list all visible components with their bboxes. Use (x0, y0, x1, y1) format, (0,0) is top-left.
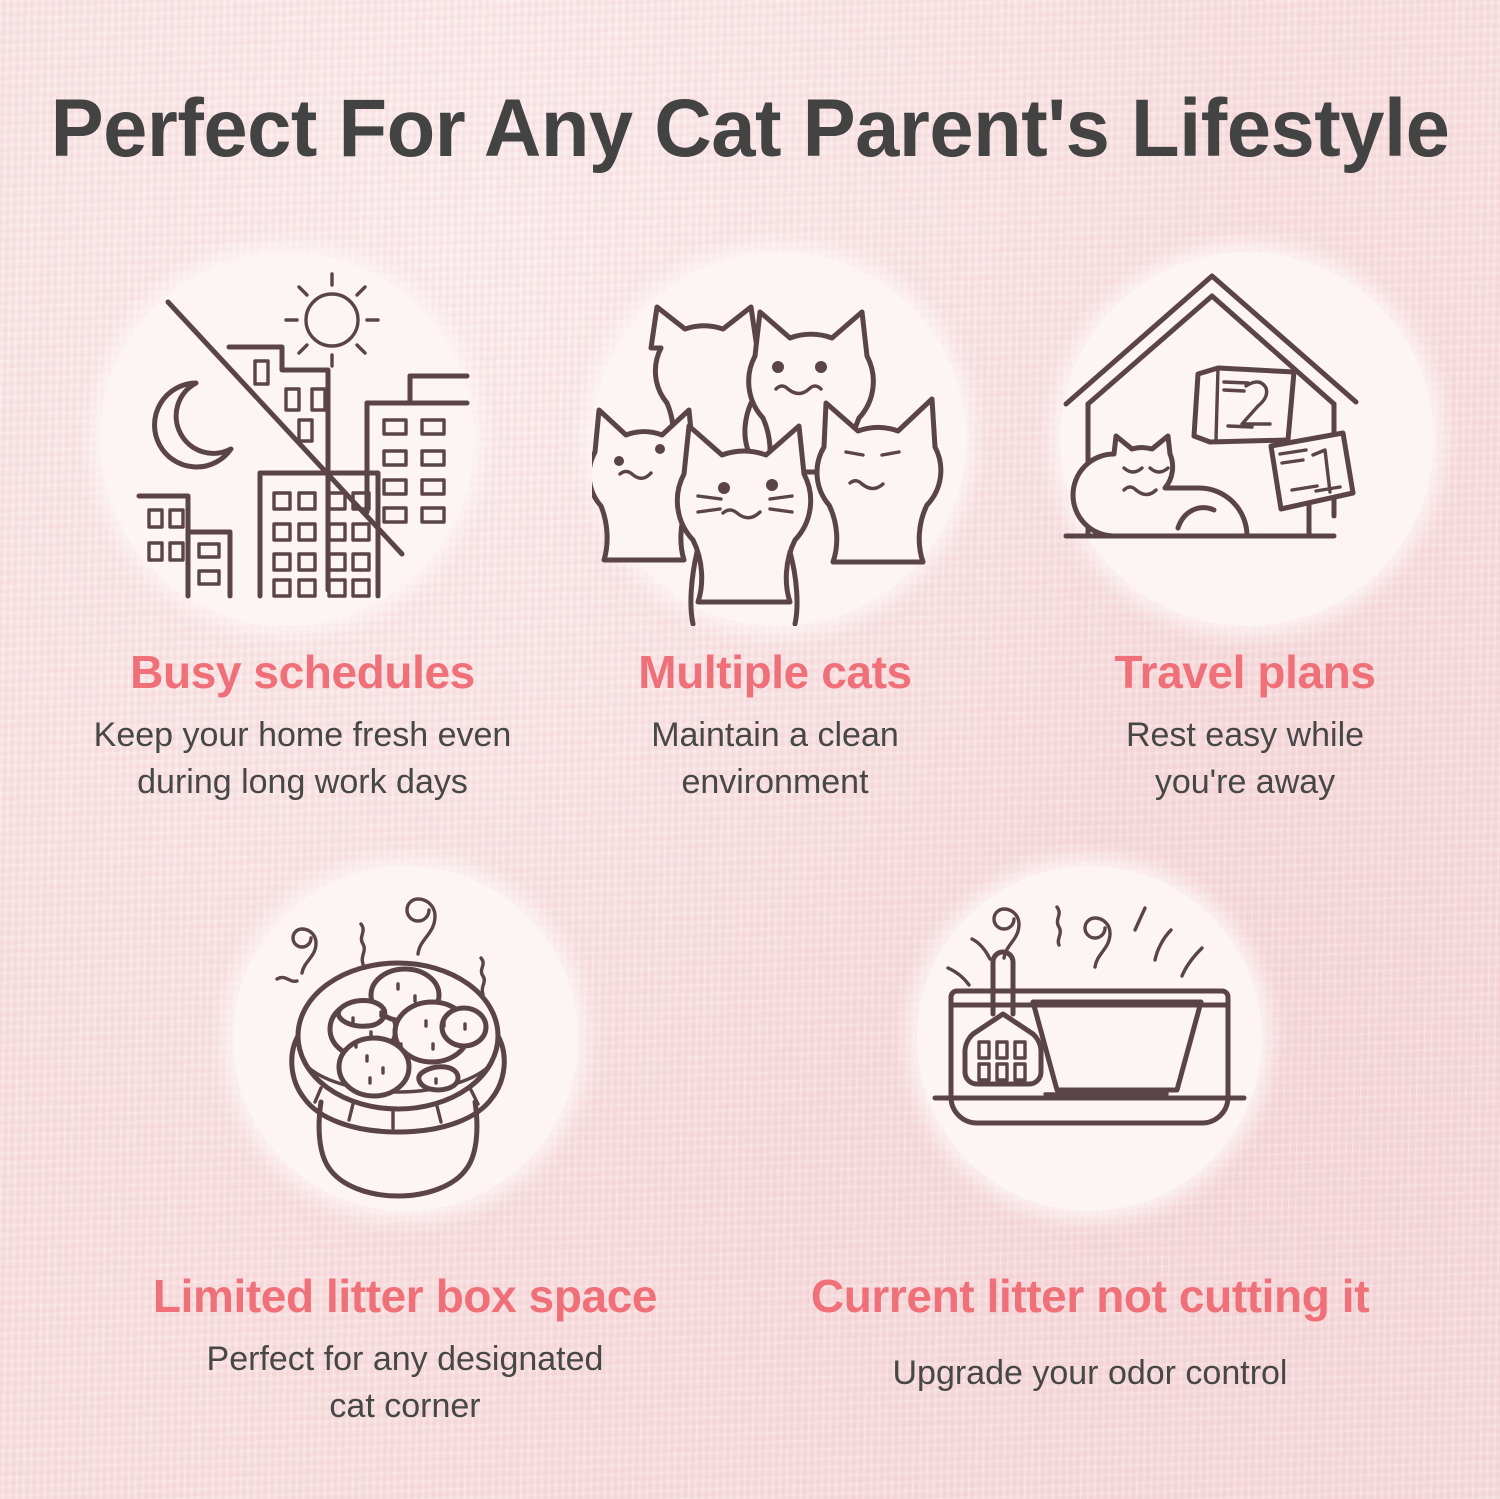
feature-text-limited-litter-box-space: Limited litter box space Perfect for any… (60, 1272, 750, 1429)
feature-text-current-litter-not-cutting-it: Current litter not cutting it Upgrade yo… (740, 1272, 1440, 1397)
feature-heading: Limited litter box space (60, 1272, 750, 1320)
overflowing-litter-pail-icon (233, 866, 578, 1211)
feature-subtitle-line1: Rest easy while (1020, 712, 1470, 758)
feature-heading: Busy schedules (30, 648, 575, 696)
feature-subtitle-line2: during long work days (30, 759, 575, 805)
feature-text-busy-schedules: Busy schedules Keep your home fresh even… (30, 648, 575, 805)
feature-subtitle: Maintain a clean environment (540, 712, 1010, 804)
feature-subtitle-line2: you're away (1020, 759, 1470, 805)
house-calendar-cat-icon (1060, 252, 1434, 626)
page-title: Perfect For Any Cat Parent's Lifestyle (23, 82, 1478, 176)
feature-text-travel-plans: Travel plans Rest easy while you're away (1020, 648, 1470, 805)
feature-subtitle-line1: Upgrade your odor control (740, 1350, 1440, 1396)
feature-subtitle-line2: environment (540, 759, 1010, 805)
feature-heading: Travel plans (1020, 648, 1470, 696)
feature-subtitle-line1: Perfect for any designated (60, 1336, 750, 1382)
feature-text-multiple-cats: Multiple cats Maintain a clean environme… (540, 648, 1010, 805)
feature-subtitle: Upgrade your odor control (740, 1350, 1440, 1396)
feature-subtitle-line2: cat corner (60, 1383, 750, 1429)
feature-subtitle-line1: Maintain a clean (540, 712, 1010, 758)
feature-subtitle: Keep your home fresh even during long wo… (30, 712, 575, 804)
feature-heading: Current litter not cutting it (740, 1272, 1440, 1320)
litter-box-scoop-odor-icon (917, 866, 1262, 1211)
city-day-night-icon (100, 252, 474, 626)
feature-subtitle: Perfect for any designated cat corner (60, 1336, 750, 1428)
poster-background: Perfect For Any Cat Parent's Lifestyle (0, 0, 1500, 1499)
feature-subtitle-line1: Keep your home fresh even (30, 712, 575, 758)
feature-subtitle: Rest easy while you're away (1020, 712, 1470, 804)
multiple-cats-icon (592, 252, 966, 626)
feature-heading: Multiple cats (540, 648, 1010, 696)
